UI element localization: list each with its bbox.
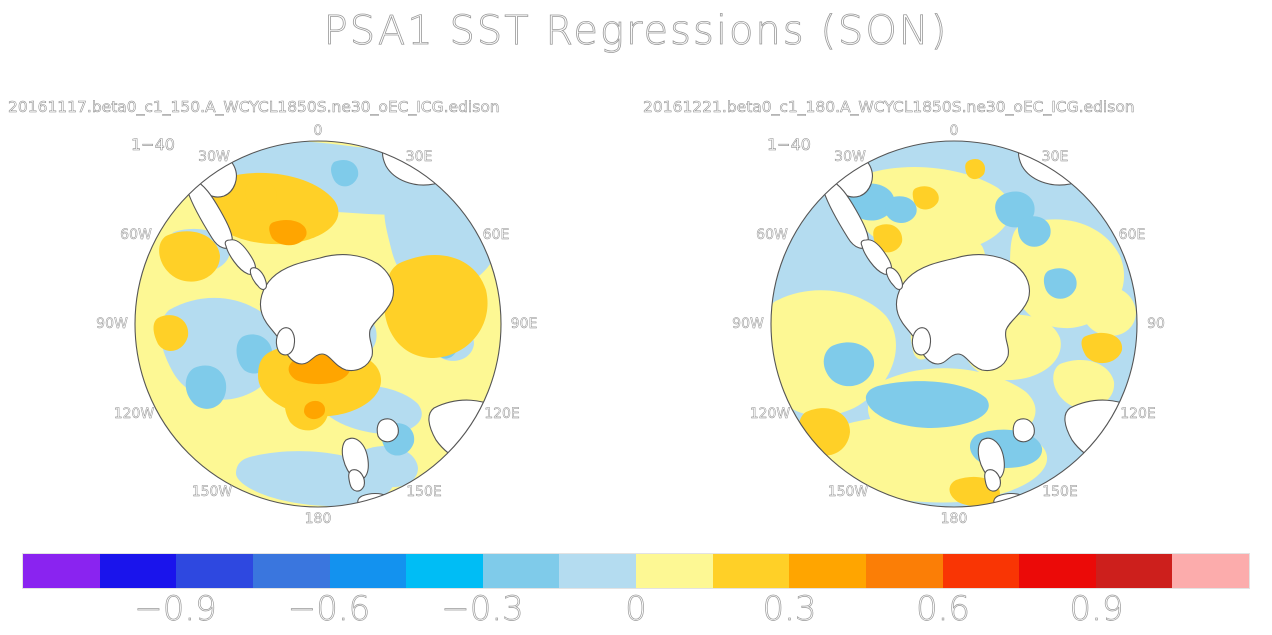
lon-label: 0 (950, 123, 959, 139)
panel-subtitle-right: 20161221.beta0_c1_180.A_WCYCL1850S.ne30_… (643, 98, 1135, 116)
colorbar-segment[interactable] (483, 554, 560, 588)
lon-label: 60W (756, 227, 788, 243)
colorbar-tick-label: 0.6 (916, 589, 970, 629)
colorbar-segment[interactable] (253, 554, 330, 588)
lon-label: 120E (1120, 406, 1156, 422)
lon-label: 120W (114, 406, 155, 422)
colorbar-tick-label: −0.9 (134, 589, 217, 629)
colorbar-segments[interactable] (22, 553, 1250, 589)
colorbar-segment[interactable] (713, 554, 790, 588)
map-left[interactable]: 0 30E 60E 90E 120E 150E 180 150W 120W 90… (134, 140, 502, 508)
lon-label: 30W (198, 149, 230, 165)
page-title: PSA1 SST Regressions (SON) (0, 8, 1272, 54)
colorbar-segment[interactable] (866, 554, 943, 588)
lon-label: 150W (828, 484, 869, 500)
map-right[interactable]: 0 30E 60E 90 120E 150E 180 150W 120W 90W… (770, 140, 1138, 508)
sst-field-left (134, 140, 502, 508)
colorbar-tick-label: −0.3 (441, 589, 524, 629)
lon-label: 120W (750, 406, 791, 422)
lon-label: 180 (941, 511, 968, 527)
colorbar-segment[interactable] (23, 554, 100, 588)
lon-label: 150W (192, 484, 233, 500)
lon-label: 150E (406, 484, 442, 500)
map-left-svg (134, 140, 502, 508)
map-panel-left: 1−40 (0, 125, 636, 535)
colorbar-tick-label: 0.9 (1069, 589, 1123, 629)
lon-label: 60E (483, 227, 510, 243)
colorbar-segment[interactable] (1096, 554, 1173, 588)
colorbar-segment[interactable] (100, 554, 177, 588)
lon-label: 90 (1147, 316, 1165, 332)
sst-field-right (770, 140, 1138, 508)
colorbar-tick-label: 0.3 (762, 589, 816, 629)
lon-label: 30E (406, 149, 433, 165)
lon-label: 30W (834, 149, 866, 165)
lon-label: 180 (305, 511, 332, 527)
colorbar-segment[interactable] (943, 554, 1020, 588)
colorbar-segment[interactable] (559, 554, 636, 588)
colorbar-segment[interactable] (789, 554, 866, 588)
lon-label: 30E (1042, 149, 1069, 165)
map-right-svg (770, 140, 1138, 508)
colorbar-segment[interactable] (1019, 554, 1096, 588)
lon-label: 60W (120, 227, 152, 243)
lon-label: 120E (484, 406, 520, 422)
map-panel-right: 1−40 (636, 125, 1272, 535)
colorbar-tick-label: −0.6 (288, 589, 371, 629)
colorbar-segment[interactable] (176, 554, 253, 588)
lon-label: 90W (96, 316, 128, 332)
lon-label: 0 (314, 123, 323, 139)
lon-label: 150E (1042, 484, 1078, 500)
colorbar-tick-labels: −0.9−0.6−0.300.30.60.9 (0, 589, 1272, 635)
panel-subtitle-left: 20161117.beta0_c1_150.A_WCYCL1850S.ne30_… (8, 98, 500, 116)
colorbar-segment[interactable] (330, 554, 407, 588)
lon-label: 90W (732, 316, 764, 332)
colorbar-segment[interactable] (636, 554, 713, 588)
lon-label: 90E (511, 316, 538, 332)
colorbar-tick-label: 0 (625, 589, 647, 629)
colorbar-segment[interactable] (406, 554, 483, 588)
colorbar[interactable] (22, 553, 1250, 589)
colorbar-segment[interactable] (1172, 554, 1249, 588)
lon-label: 60E (1119, 227, 1146, 243)
